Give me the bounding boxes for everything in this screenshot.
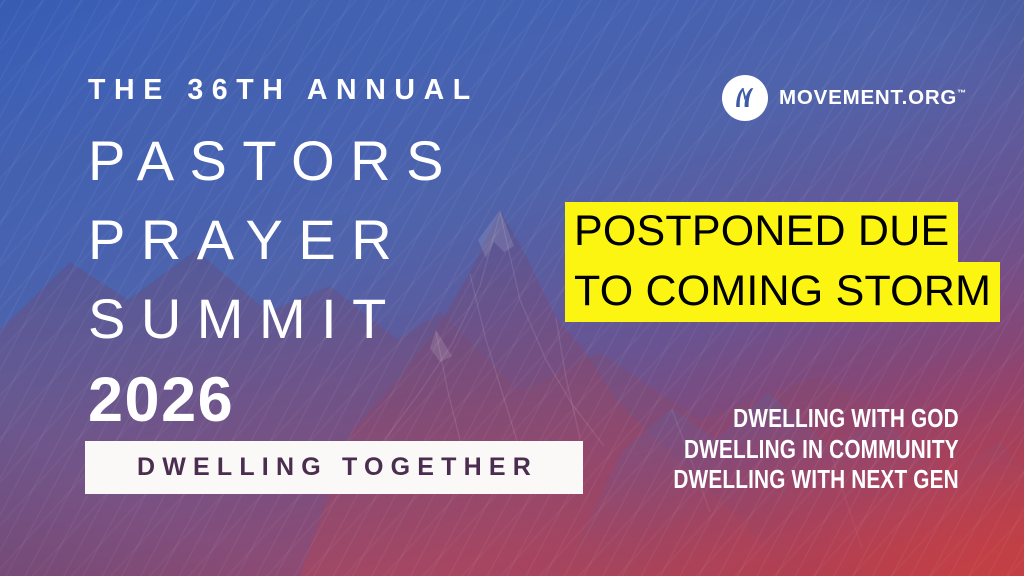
event-year: 2026 <box>88 369 648 432</box>
event-kicker: THE 36TH ANNUAL <box>88 76 648 105</box>
tagline-line-1: DWELLING WITH GOD <box>674 403 959 434</box>
alert-line-2: TO COMING STORM <box>565 262 1000 322</box>
movement-org-logo[interactable]: MOVEMENT.ORG™ <box>722 75 966 121</box>
alert-line-1: POSTPONED DUE <box>565 202 958 262</box>
tagline-block: DWELLING WITH GOD DWELLING IN COMMUNITY … <box>602 403 959 495</box>
logo-wordmark-text: MOVEMENT.ORG <box>779 86 957 109</box>
theme-banner-text: DWELLING TOGETHER <box>130 453 538 482</box>
title-line-pastors: PASTORS <box>88 133 648 189</box>
trademark-symbol: ™ <box>957 88 966 98</box>
headline-block: THE 36TH ANNUAL PASTORS PRAYER SUMMIT 20… <box>88 76 648 432</box>
tagline-line-3: DWELLING WITH NEXT GEN <box>674 464 959 495</box>
title-line-prayer: PRAYER <box>88 212 648 268</box>
postponed-alert-banner: POSTPONED DUE TO COMING STORM <box>565 202 1000 322</box>
theme-banner: DWELLING TOGETHER <box>85 441 583 494</box>
tagline-line-2: DWELLING IN COMMUNITY <box>674 434 959 465</box>
movement-m-monogram-icon <box>722 75 768 121</box>
event-poster: MOVEMENT.ORG™ THE 36TH ANNUAL PASTORS PR… <box>0 0 1024 576</box>
logo-wordmark: MOVEMENT.ORG™ <box>779 86 966 110</box>
title-line-summit: SUMMIT <box>88 291 648 347</box>
